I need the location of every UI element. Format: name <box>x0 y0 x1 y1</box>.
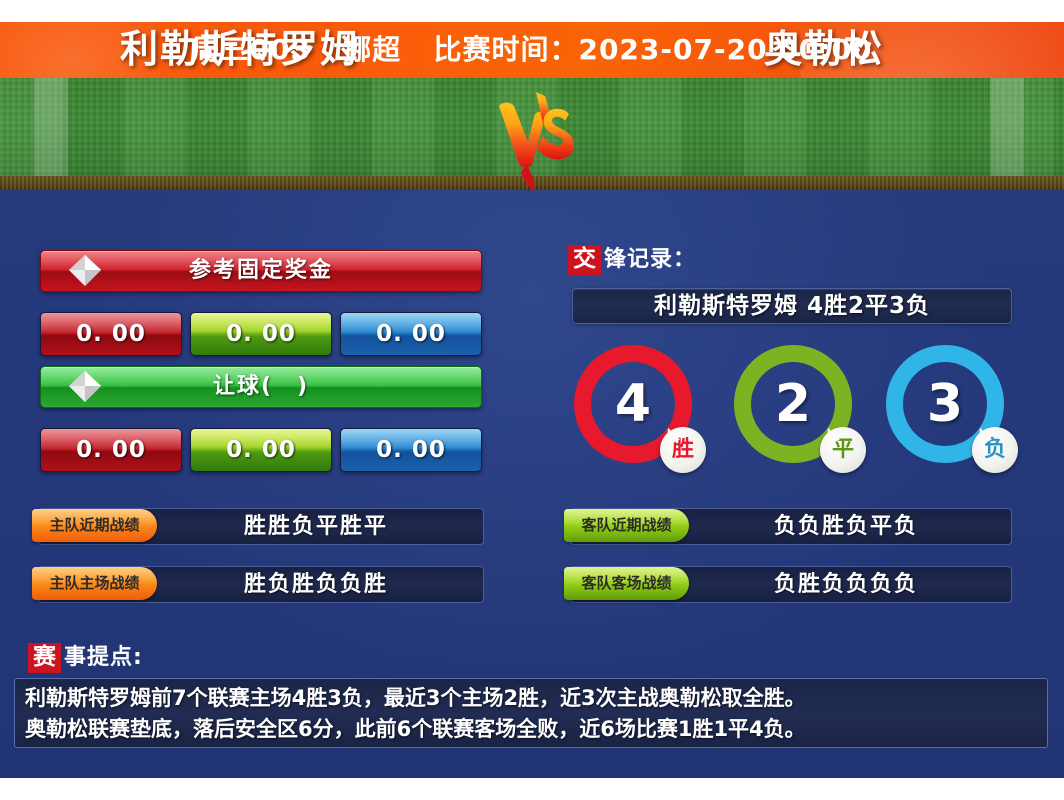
fixed-prize-away-value: 0. 00 <box>341 313 481 355</box>
handicap-banner-label: 让球( ) <box>41 367 481 407</box>
h2h-summary-bar: 利勒斯特罗姆 4胜2平3负 <box>572 288 1012 324</box>
match-header-title: 周三003 挪超 比赛时间：2023-07-20 00:00 <box>0 22 1064 78</box>
win-ring-badge-label: 胜 <box>660 427 706 473</box>
win-ring-badge: 胜 <box>660 427 706 473</box>
home-recent-form-tag: 主队近期战绩 <box>32 509 157 542</box>
loss-ring-badge-label: 负 <box>972 427 1018 473</box>
match-preview-page: 周三003 挪超 比赛时间：2023-07-20 00:00 利勒斯特罗姆 奥勒… <box>0 0 1064 800</box>
analysis-box: 利勒斯特罗姆前7个联赛主场4胜3负，最近3个主场2胜，近3次主战奥勒松取全胜。 … <box>14 678 1048 748</box>
fixed-prize-draw-odd[interactable]: 0. 00 <box>190 312 332 356</box>
handicap-away-odd[interactable]: 0. 00 <box>340 428 482 472</box>
h2h-draw-ring: 2 平 <box>734 345 852 463</box>
away-recent-form-tag-label: 客队近期战绩 <box>564 509 689 542</box>
handicap-draw-odd[interactable]: 0. 00 <box>190 428 332 472</box>
h2h-heading: 交锋记录： <box>568 245 696 275</box>
fixed-prize-home-odd[interactable]: 0. 00 <box>40 312 182 356</box>
analysis-heading-chip: 赛 <box>28 643 61 673</box>
handicap-home-odd[interactable]: 0. 00 <box>40 428 182 472</box>
match-header-bar: 周三003 挪超 比赛时间：2023-07-20 00:00 <box>0 22 1064 78</box>
analysis-heading-rest: 事提点: <box>61 643 143 673</box>
away-venue-form-tag-label: 客队客场战绩 <box>564 567 689 600</box>
fixed-prize-home-value: 0. 00 <box>41 313 181 355</box>
fixed-prize-banner-label: 参考固定奖金 <box>41 251 481 291</box>
draw-ring-badge: 平 <box>820 427 866 473</box>
home-recent-form-tag-label: 主队近期战绩 <box>32 509 157 542</box>
diamond-icon <box>66 368 104 406</box>
draw-ring-badge-label: 平 <box>820 427 866 473</box>
h2h-heading-chip: 交 <box>568 245 601 275</box>
loss-ring-badge: 负 <box>972 427 1018 473</box>
handicap-banner: 让球( ) <box>40 366 482 408</box>
h2h-summary-text: 利勒斯特罗姆 4胜2平3负 <box>573 289 1011 323</box>
away-recent-form-tag: 客队近期战绩 <box>564 509 689 542</box>
fixed-prize-draw-value: 0. 00 <box>191 313 331 355</box>
fixed-prize-banner: 参考固定奖金 <box>40 250 482 292</box>
home-venue-form-tag: 主队主场战绩 <box>32 567 157 600</box>
vs-icon <box>487 84 583 196</box>
home-venue-form-tag-label: 主队主场战绩 <box>32 567 157 600</box>
h2h-heading-rest: 锋记录： <box>601 245 696 275</box>
h2h-win-ring: 4 胜 <box>574 345 692 463</box>
handicap-away-value: 0. 00 <box>341 429 481 471</box>
analysis-line-1: 利勒斯特罗姆前7个联赛主场4胜3负，最近3个主场2胜，近3次主战奥勒松取全胜。 <box>25 683 1037 714</box>
h2h-loss-ring: 3 负 <box>886 345 1004 463</box>
diamond-icon <box>66 252 104 290</box>
fixed-prize-away-odd[interactable]: 0. 00 <box>340 312 482 356</box>
away-venue-form-tag: 客队客场战绩 <box>564 567 689 600</box>
analysis-line-2: 奥勒松联赛垫底，落后安全区6分，此前6个联赛客场全败，近6场比赛1胜1平4负。 <box>25 714 1037 745</box>
handicap-home-value: 0. 00 <box>41 429 181 471</box>
analysis-heading: 赛事提点: <box>28 643 143 673</box>
handicap-draw-value: 0. 00 <box>191 429 331 471</box>
